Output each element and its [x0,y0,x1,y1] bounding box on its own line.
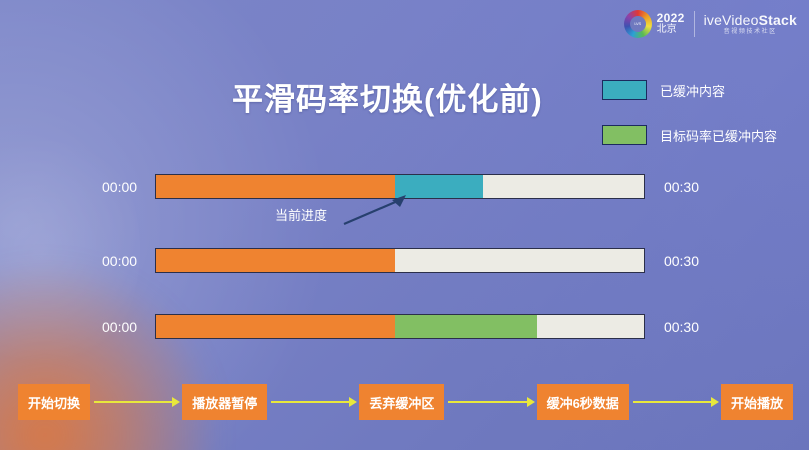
flow-step-discard-buffer[interactable]: 丢弃缓冲区 [359,384,444,420]
brand-header: LVS 2022 北京 iveVideoStack 音视频技术社区 [624,10,797,38]
ring-inner-label: LVS [630,16,646,32]
flow-arrow-icon [444,396,536,408]
timeline-track[interactable] [155,174,645,199]
legend-swatch-buffered [602,80,647,100]
timeline-segment [156,315,395,338]
slide-root: LVS 2022 北京 iveVideoStack 音视频技术社区 平滑码率切换… [0,0,809,450]
legend-label-target-buffered: 目标码率已缓冲内容 [660,126,777,145]
livevideostack-logo: iveVideoStack 音视频技术社区 [704,13,797,36]
brand-divider [694,11,695,37]
timeline-end-label: 00:30 [651,253,699,269]
timeline-end-label: 00:30 [651,319,699,335]
livevideostack-tagline: 音视频技术社区 [704,29,797,36]
timeline-row: 00:00 00:30 [102,314,712,339]
logo-mid: o [751,12,759,28]
legend-item-buffered: 已缓冲内容 [602,80,777,100]
flow-step-start-playback[interactable]: 开始播放 [721,384,793,420]
timeline-start-label: 00:00 [102,179,150,195]
legend-swatch-target-buffered [602,125,647,145]
logo-prefix: iveVide [704,12,751,28]
event-logo: LVS 2022 北京 [624,10,685,38]
timeline-row: 00:00 00:30 [102,174,712,199]
color-ring-icon: LVS [624,10,652,38]
timeline-track[interactable] [155,314,645,339]
flow-arrow-icon [267,396,359,408]
page-title: 平滑码率切换(优化前) [232,74,543,119]
flow-step-start-switch[interactable]: 开始切换 [18,384,90,420]
timeline-segment [395,175,483,198]
flow-step-buffer-6s[interactable]: 缓冲6秒数据 [537,384,629,420]
timeline-segment [156,175,395,198]
logo-bold: Stack [759,12,797,28]
event-year-city: 2022 北京 [657,12,685,35]
timeline-end-label: 00:30 [651,179,699,195]
event-city: 北京 [657,25,685,36]
timeline-row: 00:00 00:30 [102,248,712,273]
flow-arrow-icon [90,396,182,408]
timeline-start-label: 00:00 [102,319,150,335]
legend-item-target-buffered: 目标码率已缓冲内容 [602,125,777,145]
timeline-segment [395,315,537,338]
timeline-segment [395,249,644,272]
flow-arrow-icon [629,396,721,408]
orange-glow-decoration [0,270,210,450]
current-progress-annotation: 当前进度 [275,205,327,224]
legend: 已缓冲内容 目标码率已缓冲内容 [602,80,777,145]
flow-step-player-pause[interactable]: 播放器暂停 [182,384,267,420]
livevideostack-wordmark: iveVideoStack [704,13,797,28]
timeline-track[interactable] [155,248,645,273]
timeline-start-label: 00:00 [102,253,150,269]
timeline-segment [156,249,395,272]
legend-label-buffered: 已缓冲内容 [660,81,725,100]
timeline-segment [483,175,644,198]
process-flow: 开始切换 播放器暂停 丢弃缓冲区 缓冲6秒数据 开始播放 [18,384,793,420]
timeline-segment [537,315,644,338]
